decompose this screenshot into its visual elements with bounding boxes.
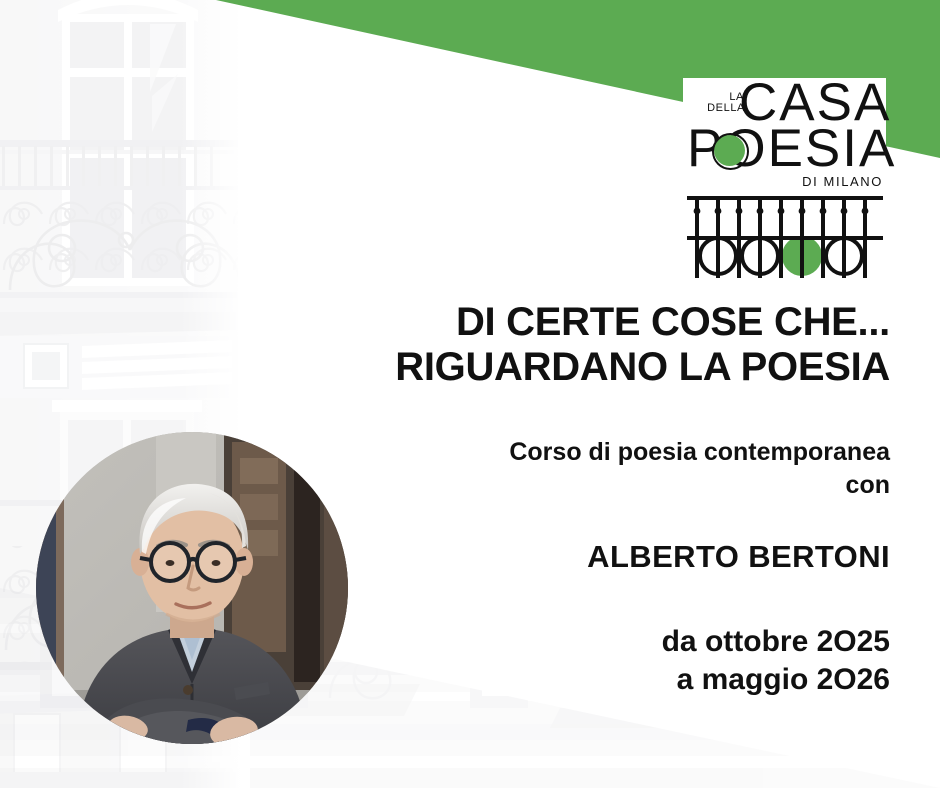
logo-della-text: DELLA [689,103,745,114]
logo-poesia-row: POESIA [687,122,887,180]
poster-canvas: LA DELLA CASA POESIA DI MILANO [0,0,940,788]
course-subtitle: Corso di poesia contemporanea con [270,436,890,501]
logo-city-text: DI MILANO [802,174,883,189]
logo-article-stack: LA DELLA [689,92,745,114]
casa-della-poesia-logo: LA DELLA CASA POESIA DI MILANO [683,78,886,278]
logo-o-ring-icon [712,133,749,170]
course-dates: da ottobre 2O25 a maggio 2O26 [270,623,890,699]
speaker-name: ALBERTO BERTONI [270,539,890,575]
logo-railing-icon [687,194,883,278]
page-title: DI CERTE COSE CHE... RIGUARDANO LA POESI… [270,300,890,390]
poster-copy: DI CERTE COSE CHE... RIGUARDANO LA POESI… [270,300,890,700]
